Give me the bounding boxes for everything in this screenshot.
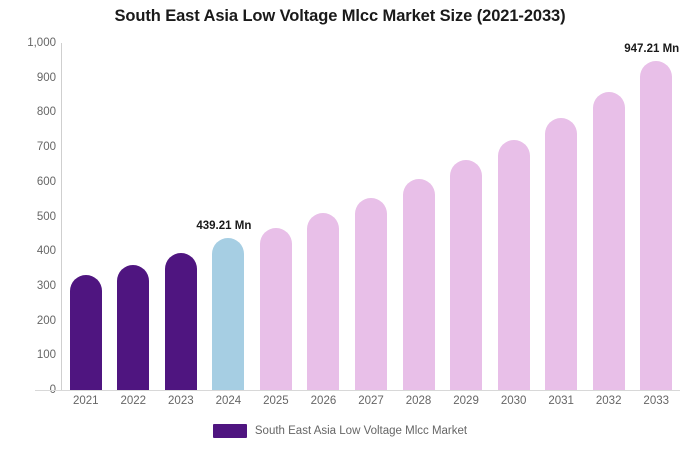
bar-2025[interactable] — [260, 228, 292, 390]
x-axis-tick-2032: 2032 — [585, 395, 633, 407]
bar-slot — [62, 43, 110, 390]
bar-slot — [585, 43, 633, 390]
bar-2029[interactable] — [450, 160, 482, 390]
y-axis-tick: 900 — [4, 72, 56, 84]
bar-2031[interactable] — [545, 118, 577, 390]
x-axis-tick-2033: 2033 — [632, 395, 680, 407]
bar-2027[interactable] — [355, 198, 387, 390]
bar-2024[interactable] — [212, 238, 244, 390]
bar-2023[interactable] — [165, 253, 197, 390]
chart-title: South East Asia Low Voltage Mlcc Market … — [0, 7, 680, 26]
x-axis-tick-2028: 2028 — [395, 395, 443, 407]
bar-2021[interactable] — [70, 275, 102, 390]
x-axis-tick-2025: 2025 — [252, 395, 300, 407]
y-axis-tick: 800 — [4, 106, 56, 118]
x-axis-tick-2026: 2026 — [300, 395, 348, 407]
y-axis-tick: 1,000 — [4, 37, 56, 49]
x-axis-tick-2022: 2022 — [110, 395, 158, 407]
bar-slot — [395, 43, 443, 390]
bar-2028[interactable] — [403, 179, 435, 390]
bar-slot — [300, 43, 348, 390]
bars-layer — [62, 43, 680, 390]
bar-2022[interactable] — [117, 265, 149, 390]
chart-container: South East Asia Low Voltage Mlcc Market … — [0, 0, 680, 450]
x-axis-tick-2027: 2027 — [347, 395, 395, 407]
y-axis-tick: 100 — [4, 349, 56, 361]
x-axis-tick-2021: 2021 — [62, 395, 110, 407]
x-axis-line — [35, 390, 680, 391]
y-axis-tick: 200 — [4, 315, 56, 327]
legend-label: South East Asia Low Voltage Mlcc Market — [255, 425, 467, 437]
bar-slot — [442, 43, 490, 390]
y-axis-tick: 700 — [4, 141, 56, 153]
bar-2030[interactable] — [498, 140, 530, 390]
y-axis-tick: 300 — [4, 280, 56, 292]
bar-slot — [490, 43, 538, 390]
bar-slot — [252, 43, 300, 390]
bar-2033[interactable] — [640, 61, 672, 390]
bar-slot — [632, 43, 680, 390]
y-axis-tick: 400 — [4, 245, 56, 257]
x-axis-tick-2023: 2023 — [157, 395, 205, 407]
y-axis-tick: 600 — [4, 176, 56, 188]
x-axis-tick-2031: 2031 — [537, 395, 585, 407]
bar-slot — [205, 43, 253, 390]
legend-color-swatch — [213, 424, 247, 438]
data-label-2033: 947.21 Mn — [624, 43, 679, 55]
bar-slot — [347, 43, 395, 390]
x-axis-tick-2029: 2029 — [442, 395, 490, 407]
plot-area — [62, 43, 680, 390]
x-axis-tick-labels: 2021202220232024202520262027202820292030… — [62, 395, 680, 415]
bar-2026[interactable] — [307, 213, 339, 390]
data-label-2024: 439.21 Mn — [196, 220, 251, 232]
y-axis-tick-labels: 1,0009008007006005004003002001000 — [0, 0, 56, 450]
chart-legend: South East Asia Low Voltage Mlcc Market — [0, 424, 680, 438]
x-axis-tick-2024: 2024 — [205, 395, 253, 407]
bar-slot — [157, 43, 205, 390]
bar-slot — [537, 43, 585, 390]
bar-slot — [110, 43, 158, 390]
x-axis-tick-2030: 2030 — [490, 395, 538, 407]
bar-2032[interactable] — [593, 92, 625, 390]
y-axis-tick: 500 — [4, 211, 56, 223]
